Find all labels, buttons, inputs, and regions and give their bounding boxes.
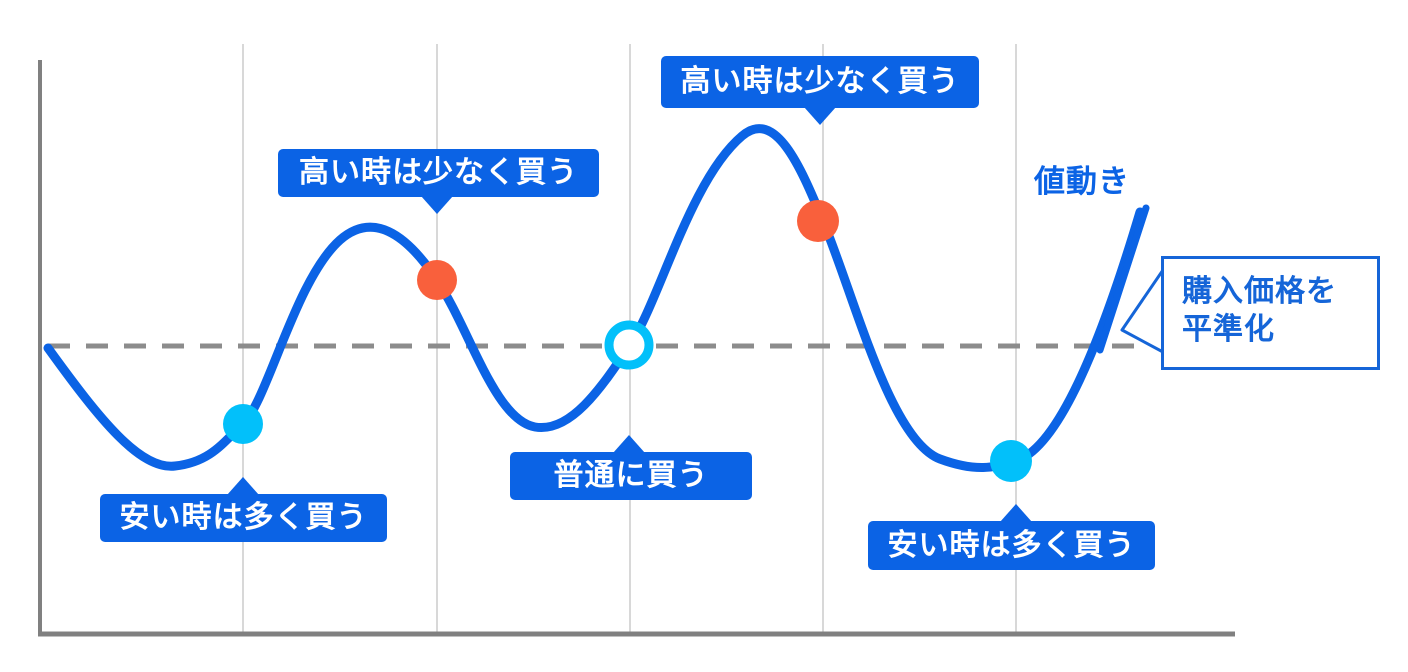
callout-tail-icon (227, 477, 259, 495)
note-box-line-1: 購入価格を (1182, 273, 1377, 311)
callout-buy-normal[interactable]: 普通に買う (510, 452, 752, 500)
callout-tail-icon (1000, 504, 1032, 522)
callout-tail-icon (613, 435, 645, 453)
callout-buy-less-2[interactable]: 高い時は少なく買う (661, 56, 979, 108)
callout-tail-icon (804, 107, 836, 125)
marker-low-2 (990, 440, 1032, 482)
chart-canvas: 高い時は少なく買う 高い時は少なく買う 安い時は多く買う 普通に買う 安い時は多… (0, 0, 1408, 672)
callout-tail-icon (421, 196, 453, 214)
callout-buy-more-1-label: 安い時は多く買う (120, 503, 368, 533)
note-box-pointer (1122, 270, 1163, 352)
callout-buy-more-2[interactable]: 安い時は多く買う (868, 521, 1155, 570)
callout-buy-more-1[interactable]: 安い時は多く買う (100, 494, 387, 542)
note-box-average-purchase-price[interactable]: 購入価格を 平準化 (1161, 256, 1380, 370)
series-label-price-movement: 値動き (1034, 166, 1130, 197)
marker-average (609, 325, 649, 365)
marker-high-1 (417, 260, 457, 300)
marker-high-2 (797, 200, 839, 242)
marker-low-1 (223, 404, 263, 444)
callout-buy-normal-label: 普通に買う (554, 461, 709, 491)
callout-buy-less-1-label: 高い時は少なく買う (299, 158, 578, 188)
callout-buy-less-1[interactable]: 高い時は少なく買う (278, 149, 599, 197)
callout-buy-more-2-label: 安い時は多く買う (888, 531, 1136, 561)
callout-buy-less-2-label: 高い時は少なく買う (681, 67, 960, 97)
note-box-line-2: 平準化 (1182, 311, 1377, 349)
